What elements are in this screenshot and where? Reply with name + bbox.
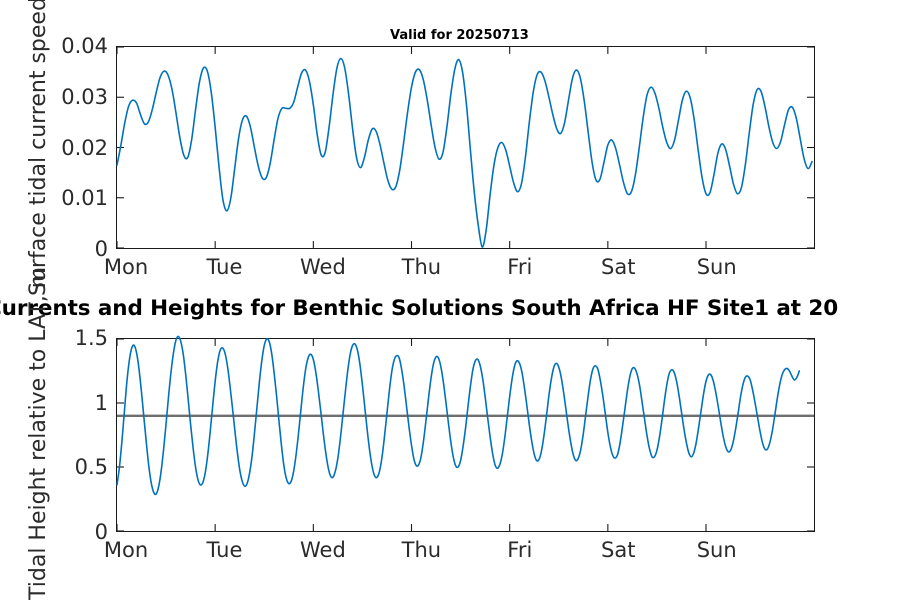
x-tick-label: Fri (507, 538, 532, 562)
plot-area-current-speed (116, 46, 815, 249)
axis-label-y-bottom: Tidal Height relative to LAT, m (26, 267, 51, 600)
x-tick-label: Tue (207, 255, 243, 279)
x-tick-label: Mon (104, 538, 148, 562)
y-tick-label: 0.04 (0, 34, 108, 58)
x-tick-label: Wed (300, 538, 346, 562)
current-speed-line-svg (117, 47, 814, 248)
y-tick-label: 0.02 (0, 136, 108, 160)
x-tick-label: Tue (207, 538, 243, 562)
figure-title: Currents and Heights for Benthic Solutio… (0, 296, 900, 321)
plot-area-tidal-height (116, 338, 815, 532)
figure-canvas: Currents and Heights for Benthic Solutio… (0, 0, 900, 600)
y-tick-label: 0 (0, 520, 108, 544)
y-tick-label: 1.5 (0, 326, 108, 350)
x-tick-label: Fri (507, 255, 532, 279)
x-tick-label: Mon (104, 255, 148, 279)
y-tick-label: 0 (0, 237, 108, 261)
y-tick-label: 0.03 (0, 85, 108, 109)
y-tick-label: 1 (0, 391, 108, 415)
x-tick-label: Sat (601, 538, 635, 562)
x-tick-label: Sat (601, 255, 635, 279)
y-tick-label: 0.5 (0, 455, 108, 479)
x-tick-label: Sun (697, 255, 737, 279)
x-tick-label: Thu (402, 255, 441, 279)
subplot-top-title: Valid for 20250713 (390, 28, 529, 43)
x-tick-label: Sun (697, 538, 737, 562)
x-tick-label: Wed (300, 255, 346, 279)
series-line (117, 59, 812, 247)
tidal-height-line-svg (117, 339, 814, 531)
y-tick-label: 0.01 (0, 186, 108, 210)
x-tick-label: Thu (402, 538, 441, 562)
